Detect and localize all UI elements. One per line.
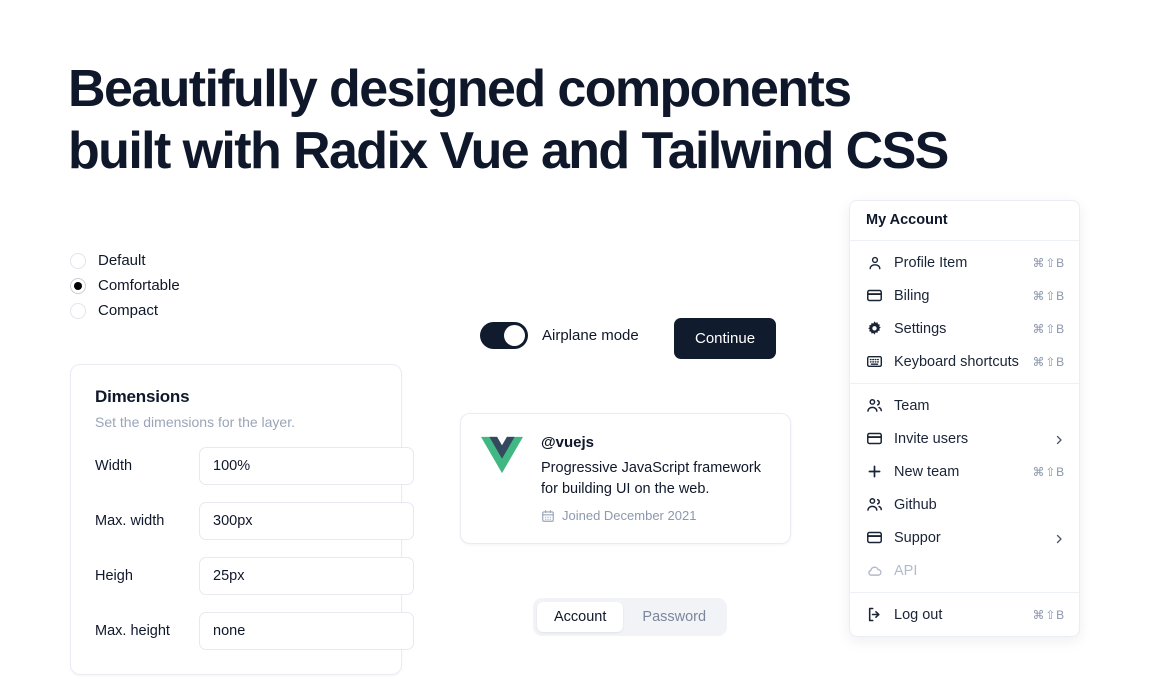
page-title: Beautifully designed components built wi… (68, 58, 1028, 182)
radio-indicator[interactable] (70, 278, 86, 294)
vue-logo-icon (481, 436, 523, 474)
page-title-line-1: Beautifully designed components (68, 58, 1028, 120)
dimensions-field-input-max-height[interactable] (199, 612, 414, 650)
continue-button[interactable]: Continue (674, 318, 776, 359)
page-title-line-2: built with Radix Vue and Tailwind CSS (68, 120, 1028, 182)
menu-group: Log out⌘⇧B (850, 593, 1079, 636)
dimensions-field-label: Max. width (95, 513, 199, 529)
menu-item-label: Team (894, 398, 1065, 414)
vuejs-description: Progressive JavaScript framework for bui… (541, 458, 770, 500)
menu-item-label: API (894, 563, 1065, 579)
switch-knob (504, 325, 525, 346)
dimensions-field-label: Heigh (95, 568, 199, 584)
vuejs-hover-card: @vuejs Progressive JavaScript framework … (460, 413, 791, 544)
logout-icon (866, 606, 883, 623)
plus-icon (866, 463, 883, 480)
keyboard-icon (866, 353, 883, 370)
menu-item-shortcut: ⌘⇧B (1033, 355, 1065, 369)
radio-option-compact[interactable]: Compact (70, 298, 180, 323)
menu-item-shortcut: ⌘⇧B (1033, 289, 1065, 303)
radio-option-comfortable[interactable]: Comfortable (70, 273, 180, 298)
radio-option-label: Compact (98, 303, 158, 318)
menu-group: Profile Item⌘⇧BBiling⌘⇧BSettings⌘⇧BKeybo… (850, 241, 1079, 383)
vuejs-joined: Joined December 2021 (541, 508, 770, 523)
menu-item-settings[interactable]: Settings⌘⇧B (850, 312, 1079, 345)
dimensions-card: Dimensions Set the dimensions for the la… (70, 364, 402, 675)
chevron-right-icon (1053, 532, 1065, 544)
menu-item-invite-users[interactable]: Invite users (850, 422, 1079, 455)
menu-item-shortcut: ⌘⇧B (1033, 608, 1065, 622)
cloud-icon (866, 562, 883, 579)
radio-option-default[interactable]: Default (70, 248, 180, 273)
menu-item-shortcut: ⌘⇧B (1033, 465, 1065, 479)
radio-indicator[interactable] (70, 253, 86, 269)
tab-password[interactable]: Password (625, 602, 723, 632)
menu-item-label: Invite users (894, 431, 1053, 447)
menu-item-label: Github (894, 497, 1065, 513)
menu-item-label: Log out (894, 607, 1033, 623)
menu-item-profile-item[interactable]: Profile Item⌘⇧B (850, 246, 1079, 279)
airplane-mode-label: Airplane mode (542, 327, 639, 344)
menu-item-label: Biling (894, 288, 1033, 304)
calendar-icon (541, 509, 555, 523)
dimensions-subtitle: Set the dimensions for the layer. (95, 414, 377, 430)
dimensions-field-row: Width (95, 447, 377, 485)
dimensions-field-row: Max. width (95, 502, 377, 540)
vuejs-joined-label: Joined December 2021 (562, 508, 696, 523)
chevron-right-icon (1053, 433, 1065, 445)
credit-card-icon (866, 287, 883, 304)
users-icon (866, 397, 883, 414)
dimensions-field-label: Width (95, 458, 199, 474)
menu-item-label: Keyboard shortcuts (894, 354, 1033, 370)
menu-item-api: API (850, 554, 1079, 587)
tab-account[interactable]: Account (537, 602, 623, 632)
dimensions-title: Dimensions (95, 387, 377, 407)
users-icon (866, 496, 883, 513)
user-icon (866, 254, 883, 271)
credit-card-icon (866, 529, 883, 546)
dimensions-field-row: Max. height (95, 612, 377, 650)
menu-item-keyboard-shortcuts[interactable]: Keyboard shortcuts⌘⇧B (850, 345, 1079, 378)
radio-indicator[interactable] (70, 303, 86, 319)
menu-item-team[interactable]: Team (850, 389, 1079, 422)
vuejs-handle: @vuejs (541, 434, 770, 451)
dimensions-field-input-width[interactable] (199, 447, 414, 485)
tabs: AccountPassword (533, 598, 727, 636)
menu-item-label: New team (894, 464, 1033, 480)
menu-item-label: Settings (894, 321, 1033, 337)
account-dropdown-menu: My Account Profile Item⌘⇧BBiling⌘⇧BSetti… (849, 200, 1080, 637)
menu-item-new-team[interactable]: New team⌘⇧B (850, 455, 1079, 488)
menu-item-label: Profile Item (894, 255, 1033, 271)
airplane-mode-switch[interactable] (480, 322, 528, 349)
menu-item-shortcut: ⌘⇧B (1033, 322, 1065, 336)
menu-header: My Account (850, 201, 1079, 240)
menu-item-label: Suppor (894, 530, 1053, 546)
credit-card-icon (866, 430, 883, 447)
dimensions-field-label: Max. height (95, 623, 199, 639)
menu-item-github[interactable]: Github (850, 488, 1079, 521)
airplane-mode-row: Airplane mode (480, 322, 639, 349)
radio-group: DefaultComfortableCompact (70, 248, 180, 323)
menu-item-log-out[interactable]: Log out⌘⇧B (850, 598, 1079, 631)
menu-item-shortcut: ⌘⇧B (1033, 256, 1065, 270)
dimensions-field-input-max-width[interactable] (199, 502, 414, 540)
radio-option-label: Comfortable (98, 278, 180, 293)
radio-option-label: Default (98, 253, 146, 268)
dimensions-field-input-heigh[interactable] (199, 557, 414, 595)
dimensions-field-row: Heigh (95, 557, 377, 595)
menu-item-biling[interactable]: Biling⌘⇧B (850, 279, 1079, 312)
menu-item-suppor[interactable]: Suppor (850, 521, 1079, 554)
menu-group: TeamInvite usersNew team⌘⇧BGithubSupporA… (850, 384, 1079, 592)
gear-icon (866, 320, 883, 337)
